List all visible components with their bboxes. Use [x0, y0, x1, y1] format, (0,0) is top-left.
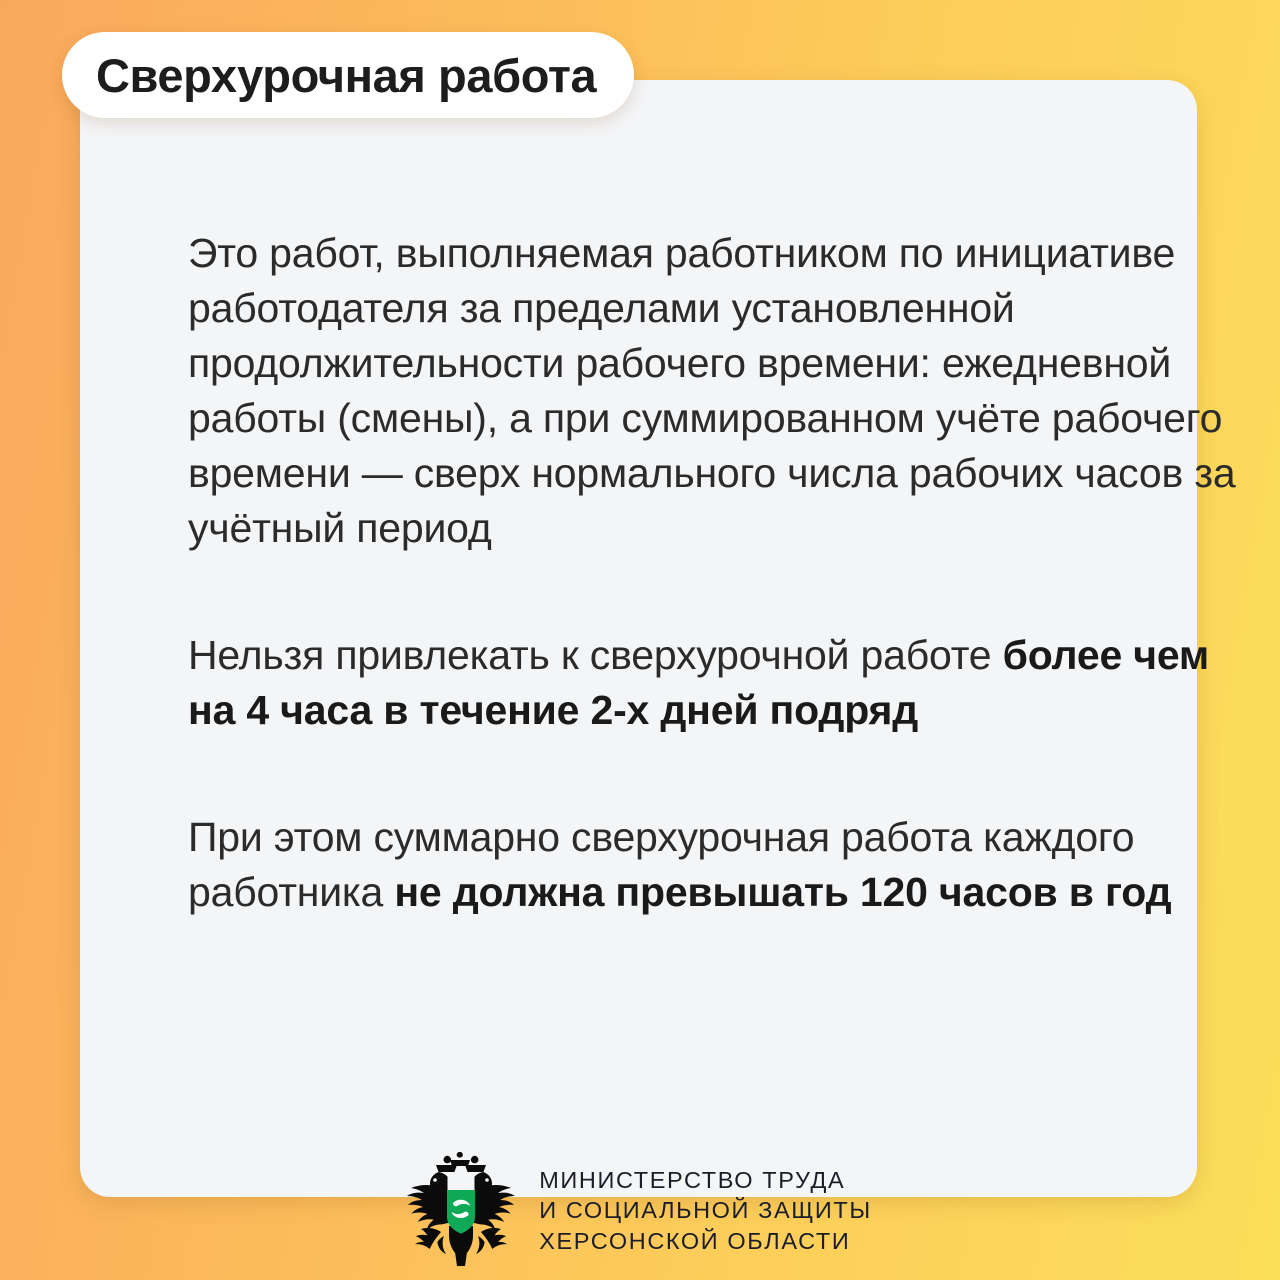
text-run: Это работ, выполняемая работником по ини…: [188, 230, 1236, 551]
ministry-name: МИНИСТЕРСТВО ТРУДА И СОЦИАЛЬНОЙ ЗАЩИТЫ Х…: [539, 1168, 871, 1254]
ministry-line-3: ХЕРСОНСКОЙ ОБЛАСТИ: [539, 1229, 871, 1254]
ministry-line-2: И СОЦИАЛЬНОЙ ЗАЩИТЫ: [539, 1198, 871, 1223]
text-run: не должна превышать 120 часов в год: [394, 869, 1171, 915]
paragraph-definition: Это работ, выполняемая работником по ини…: [188, 226, 1258, 556]
text-run: Нельзя привлекать к сверхурочной работе: [188, 632, 1003, 678]
double-headed-eagle-emblem: [405, 1152, 517, 1270]
title-badge: Сверхурочная работа: [62, 32, 634, 118]
page-title: Сверхурочная работа: [96, 52, 596, 99]
ministry-footer: МИНИСТЕРСТВО ТРУДА И СОЦИАЛЬНОЙ ЗАЩИТЫ Х…: [80, 1152, 1197, 1270]
paragraph-yearly-limit: При этом суммарно сверхурочная работа ка…: [188, 810, 1258, 920]
paragraph-daily-limit: Нельзя привлекать к сверхурочной работе …: [188, 628, 1258, 738]
info-card: Это работ, выполняемая работником по ини…: [80, 80, 1197, 1197]
ministry-line-1: МИНИСТЕРСТВО ТРУДА: [539, 1168, 871, 1193]
card-content: Это работ, выполняемая работником по ини…: [188, 226, 1258, 920]
